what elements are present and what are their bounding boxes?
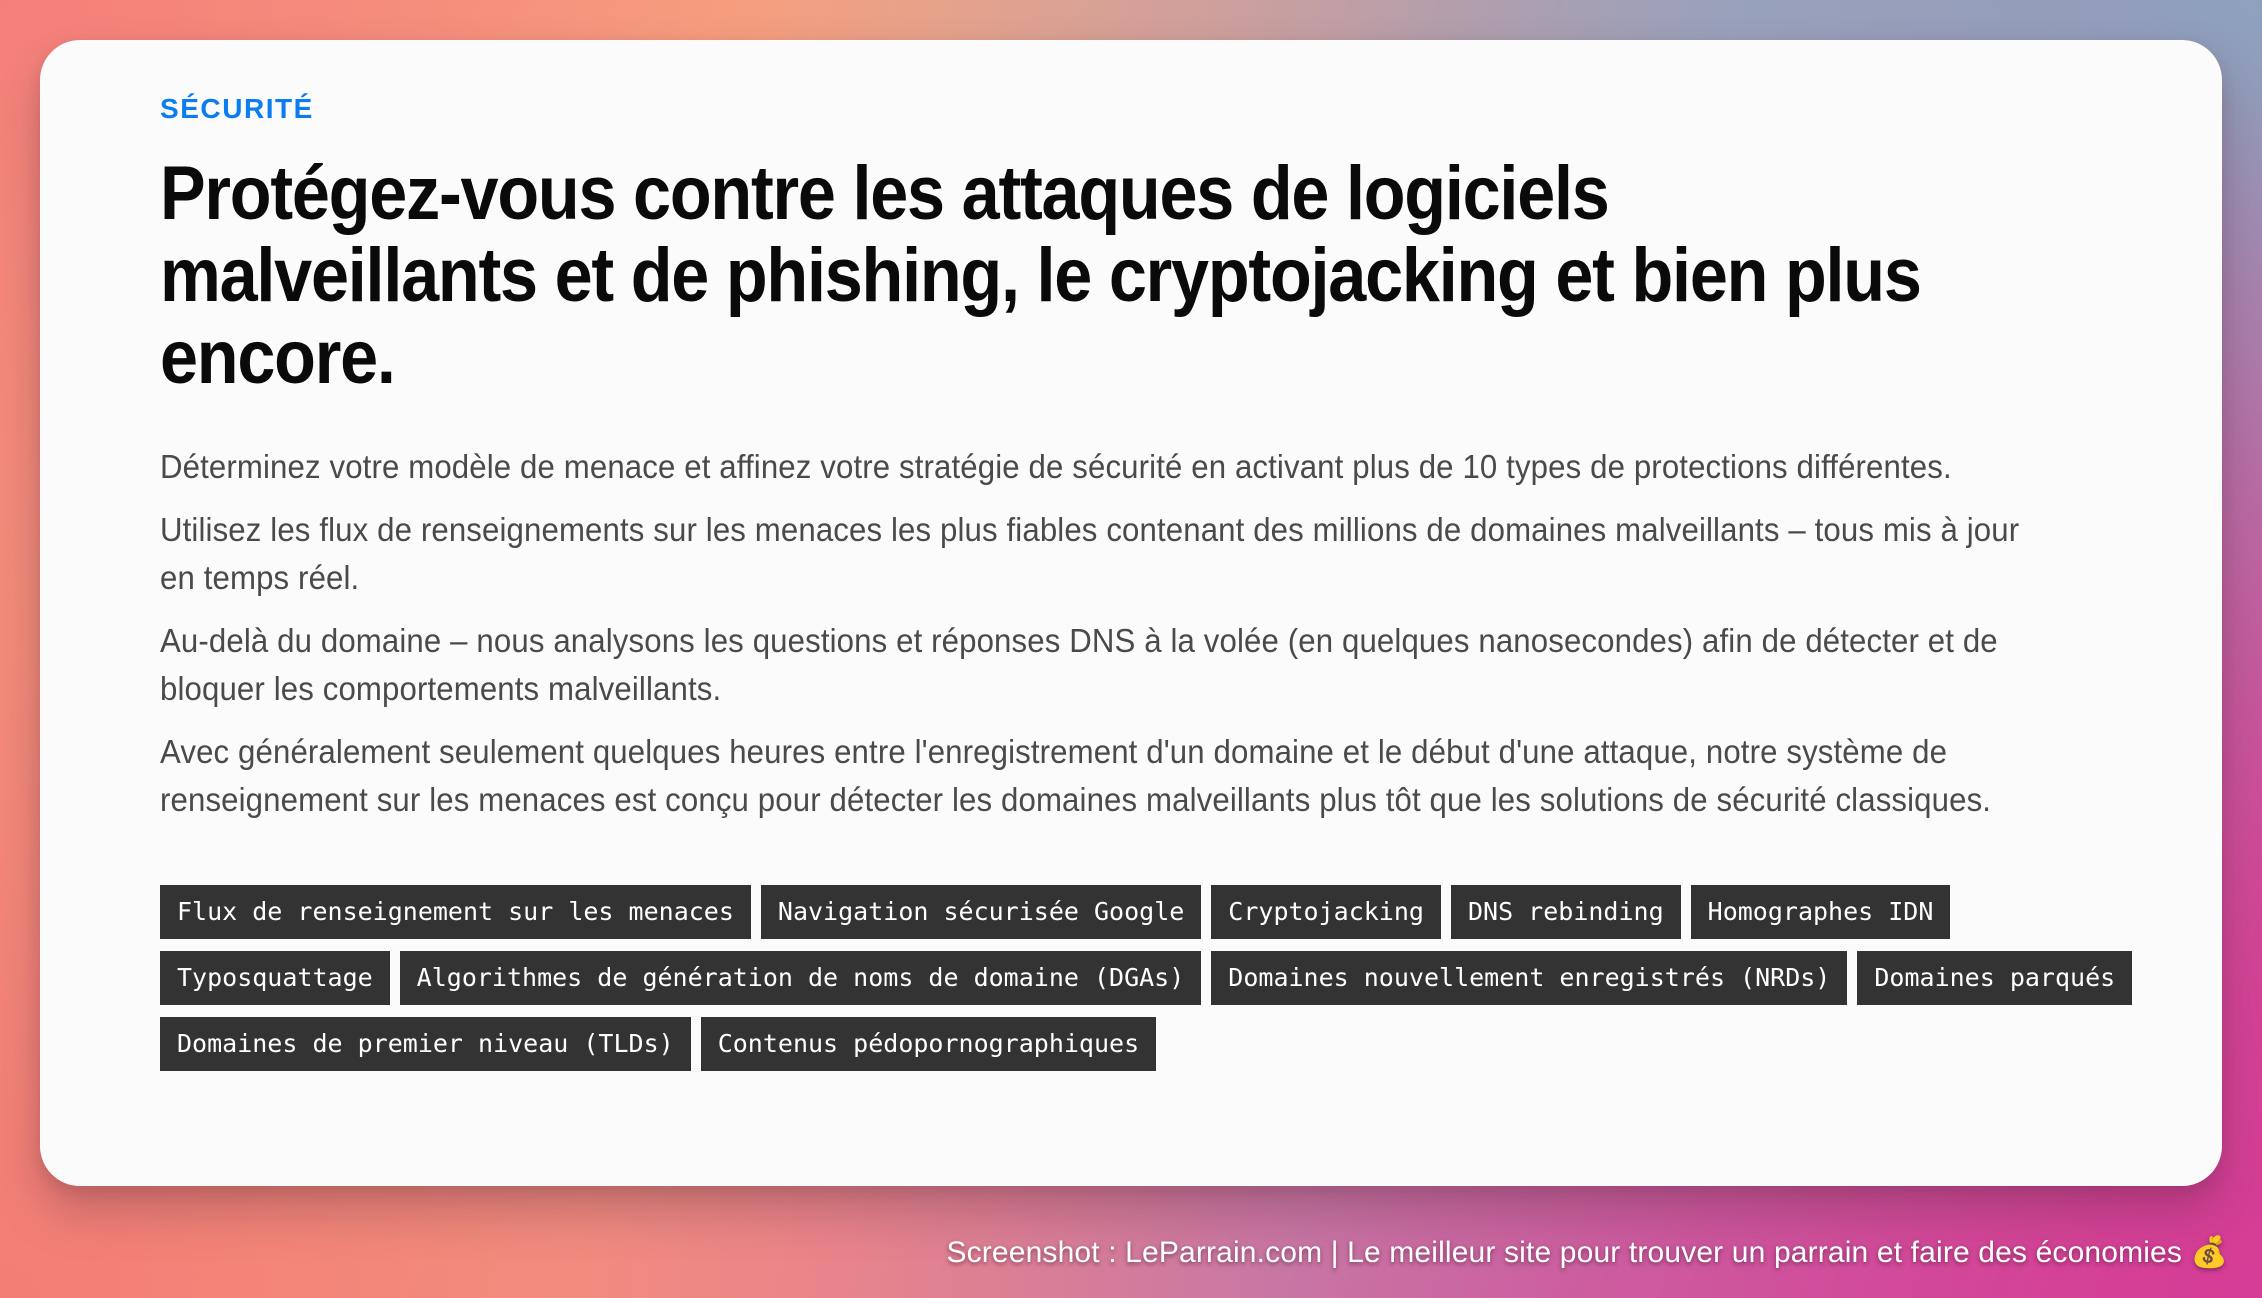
section-eyebrow-label: SÉCURITÉ [160, 94, 2160, 125]
body-paragraph: Utilisez les flux de renseignements sur … [160, 506, 2050, 603]
body-paragraph: Avec généralement seulement quelques heu… [160, 728, 2050, 825]
content-card: SÉCURITÉ Protégez-vous contre les attaqu… [40, 40, 2222, 1186]
body-paragraph: Déterminez votre modèle de menace et aff… [160, 443, 2050, 492]
protection-tag[interactable]: Flux de renseignement sur les menaces [160, 885, 751, 939]
watermark-credit: Screenshot : LeParrain.com | Le meilleur… [946, 1235, 2228, 1270]
protection-tag[interactable]: DNS rebinding [1451, 885, 1681, 939]
protection-tag[interactable]: Algorithmes de génération de noms de dom… [400, 951, 1202, 1005]
protection-tag[interactable]: Domaines nouvellement enregistrés (NRDs) [1211, 951, 1847, 1005]
body-copy: Déterminez votre modèle de menace et aff… [160, 443, 2160, 825]
protection-tag[interactable]: Domaines parqués [1857, 951, 2132, 1005]
protection-tag[interactable]: Contenus pédopornographiques [701, 1017, 1156, 1071]
protection-tag[interactable]: Cryptojacking [1211, 885, 1441, 939]
protection-tag[interactable]: Navigation sécurisée Google [761, 885, 1201, 939]
page-title: Protégez-vous contre les attaques de log… [160, 153, 1960, 399]
page-background: SÉCURITÉ Protégez-vous contre les attaqu… [0, 0, 2262, 1298]
body-paragraph: Au-delà du domaine – nous analysons les … [160, 617, 2050, 714]
protection-tag[interactable]: Homographes IDN [1691, 885, 1951, 939]
protection-tag[interactable]: Typosquattage [160, 951, 390, 1005]
protection-tag-list: Flux de renseignement sur les menaces Na… [160, 885, 2160, 1071]
protection-tag[interactable]: Domaines de premier niveau (TLDs) [160, 1017, 691, 1071]
